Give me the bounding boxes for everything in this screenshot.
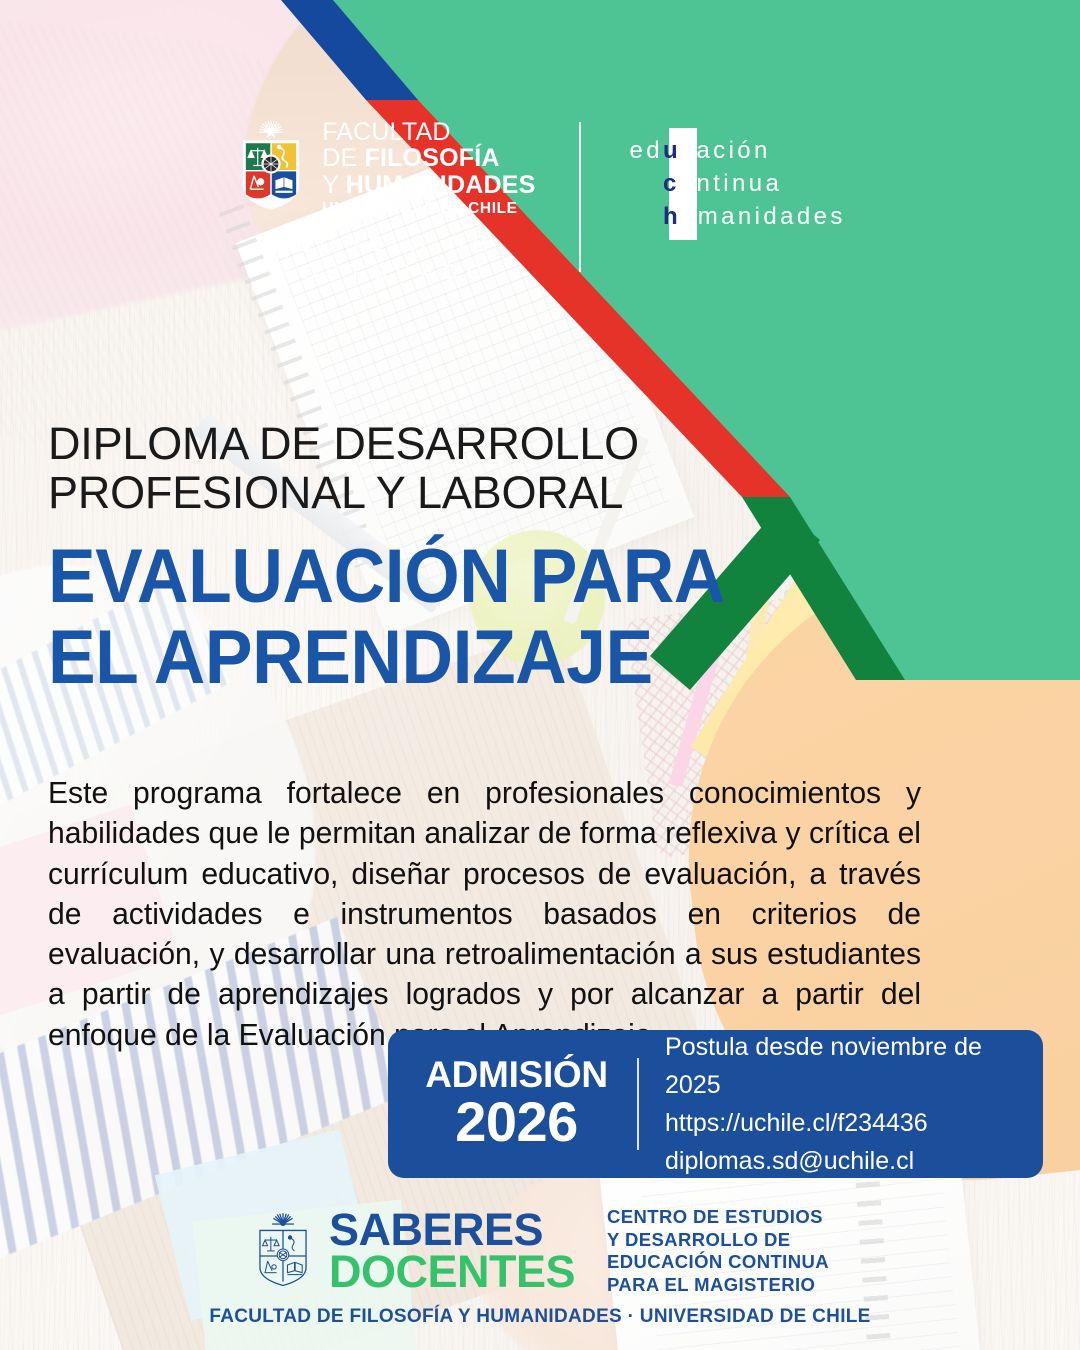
center-line-4: PARA EL MAGISTERIO (607, 1274, 829, 1297)
escuela-line-1: ESCUELA DE (274, 231, 496, 259)
admission-period: ADMISIÓN 2026 (388, 1056, 637, 1152)
ech-row3-suffix: umanidades (681, 203, 846, 231)
header-logos: FACULTAD DE FILOSOFÍA Y HUMANIDADES UNIV… (0, 118, 1080, 286)
footer-logo-row: SABERES DOCENTES CENTRO DE ESTUDIOS Y DE… (251, 1206, 829, 1296)
ech-row2-highlight: c (663, 170, 680, 198)
admission-email[interactable]: diplomas.sd@uchile.cl (665, 1142, 1043, 1180)
continuing-education-logo: educación edcontinua edhumanidades (625, 134, 845, 233)
faculty-logo: FACULTAD DE FILOSOFÍA Y HUMANIDADES UNIV… (234, 118, 535, 286)
saberes-docentes-wordmark: SABERES DOCENTES (329, 1209, 575, 1293)
ech-row-2: edcontinua (629, 167, 845, 200)
escuela-line-2: POSTGRADO (274, 259, 496, 287)
ech-row2-suffix: ontinua (680, 170, 783, 198)
header-divider (579, 122, 581, 272)
escuela-postgrado: ESCUELA DE POSTGRADO (274, 231, 496, 286)
kicker-line-1: DIPLOMA DE DESARROLLO (48, 420, 768, 469)
faculty-line-3: Y HUMANIDADES (322, 172, 535, 199)
faculty-line-3-light: Y (322, 171, 346, 199)
admission-open-date: Postula desde noviembre de 2025 (665, 1028, 1043, 1104)
ech-row3-highlight: h (663, 203, 681, 231)
page-title: EVALUACIÓN PARA EL APRENDIZAJE (48, 536, 894, 699)
admission-details: Postula desde noviembre de 2025 https://… (639, 1028, 1043, 1180)
title-line-1: EVALUACIÓN PARA (48, 536, 894, 617)
program-kicker: DIPLOMA DE DESARROLLO PROFESIONAL Y LABO… (48, 420, 768, 517)
faculty-line-1: FACULTAD (322, 119, 535, 146)
saberes-word: SABERES (329, 1209, 575, 1251)
faculty-line-2-bold: FILOSOFÍA (364, 144, 499, 172)
admission-label: ADMISIÓN (396, 1056, 637, 1093)
poster-root: FACULTAD DE FILOSOFÍA Y HUMANIDADES UNIV… (0, 0, 1080, 1350)
faculty-line-2: DE FILOSOFÍA (322, 145, 535, 172)
footer: SABERES DOCENTES CENTRO DE ESTUDIOS Y DE… (0, 1206, 1080, 1328)
ech-row-3: edhumanidades (629, 200, 845, 233)
program-description: Este programa fortalece en profesionales… (48, 773, 921, 1055)
ech-row1-suffix: cación (681, 137, 771, 165)
title-line-2: EL APRENDIZAJE (48, 617, 894, 698)
center-description: CENTRO DE ESTUDIOS Y DESARROLLO DE EDUCA… (607, 1206, 829, 1296)
saberes-shield-icon (251, 1211, 315, 1292)
center-line-3: EDUCACIÓN CONTINUA (607, 1251, 829, 1274)
ech-row-1: educación (629, 134, 845, 167)
kicker-line-2: PROFESIONAL Y LABORAL (48, 469, 768, 518)
docentes-word: DOCENTES (329, 1251, 575, 1293)
ech-row1-prefix: ed (629, 137, 663, 165)
center-line-2: Y DESARROLLO DE (607, 1229, 829, 1252)
faculty-line-3-bold: HUMANIDADES (346, 171, 536, 199)
center-line-1: CENTRO DE ESTUDIOS (607, 1206, 829, 1229)
admission-box: ADMISIÓN 2026 Postula desde noviembre de… (388, 1030, 1043, 1178)
ech-row1-highlight: u (663, 137, 681, 165)
university-shield-icon (234, 118, 308, 218)
admission-year: 2026 (396, 1093, 637, 1152)
admission-url[interactable]: https://uchile.cl/f234436 (665, 1104, 1043, 1142)
institution-line: FACULTAD DE FILOSOFÍA Y HUMANIDADES · UN… (209, 1306, 870, 1328)
faculty-line-2-light: DE (322, 144, 364, 172)
faculty-line-4: UNIVERSIDAD DE CHILE (322, 201, 535, 217)
